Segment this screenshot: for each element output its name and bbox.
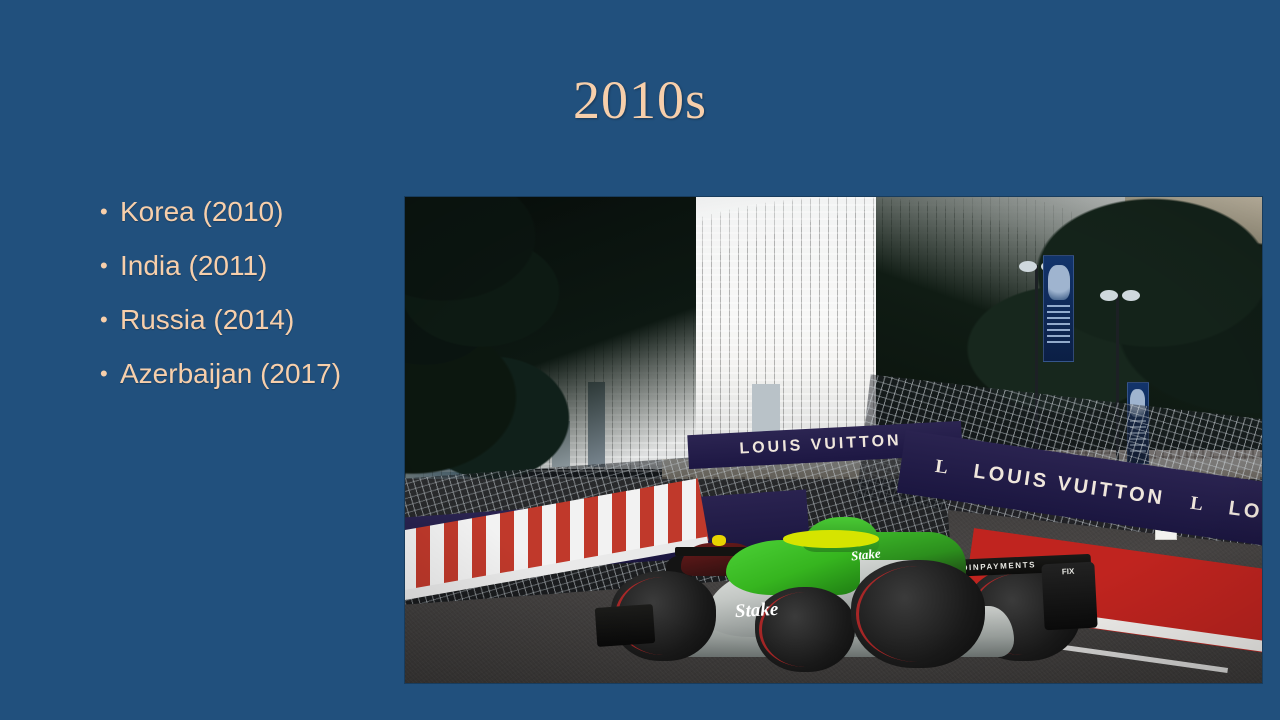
page-title: 2010s — [0, 72, 1280, 129]
list-item: • Azerbaijan (2017) — [100, 354, 410, 408]
presentation-slide: 2010s • Korea (2010) • India (2011) • Ru… — [0, 0, 1280, 720]
car-sponsor-logo-side: Stake — [735, 599, 779, 623]
bullet-list: • Korea (2010) • India (2011) • Russia (… — [100, 192, 410, 408]
list-item: • Russia (2014) — [100, 300, 410, 354]
slide-photo-baku-grand-prix: LOUIS VUITTON LOUIS VUITTON L LOUIS VUIT… — [405, 197, 1262, 683]
bullet-marker-icon: • — [100, 300, 120, 340]
barrier-brand-text: LOUIS VUITTON — [739, 432, 902, 458]
wing-endplate: FIX — [1041, 562, 1097, 631]
banner-portrait — [1048, 265, 1070, 301]
barrier-brand-text: LOUIS VUITTON — [1227, 497, 1262, 546]
lamp-globe-icon — [1019, 261, 1037, 272]
bullet-marker-icon: • — [100, 354, 120, 394]
halo-camera — [783, 530, 879, 547]
list-item-label: Russia (2014) — [120, 300, 294, 340]
lamp-globe-icon — [1100, 290, 1118, 301]
banner-text-lines — [1047, 305, 1070, 347]
list-item: • Korea (2010) — [100, 192, 410, 246]
lv-monogram-icon: L — [934, 455, 950, 479]
lv-monogram-icon: L — [1189, 492, 1205, 516]
bullet-marker-icon: • — [100, 246, 120, 286]
tyre-sidewall-band — [856, 566, 980, 662]
street-banner — [1043, 255, 1074, 362]
tyre-rear-inner — [851, 560, 985, 669]
list-item: • India (2011) — [100, 246, 410, 300]
list-item-label: Korea (2010) — [120, 192, 283, 232]
bullet-marker-icon: • — [100, 192, 120, 232]
foreground-race-car: COINPAYMENTS FIX Stake Stake — [611, 493, 1091, 683]
list-item-label: India (2011) — [120, 246, 267, 286]
front-wing — [595, 604, 655, 647]
endplate-text: FIX — [1061, 567, 1074, 577]
list-item-label: Azerbaijan (2017) — [120, 354, 341, 394]
